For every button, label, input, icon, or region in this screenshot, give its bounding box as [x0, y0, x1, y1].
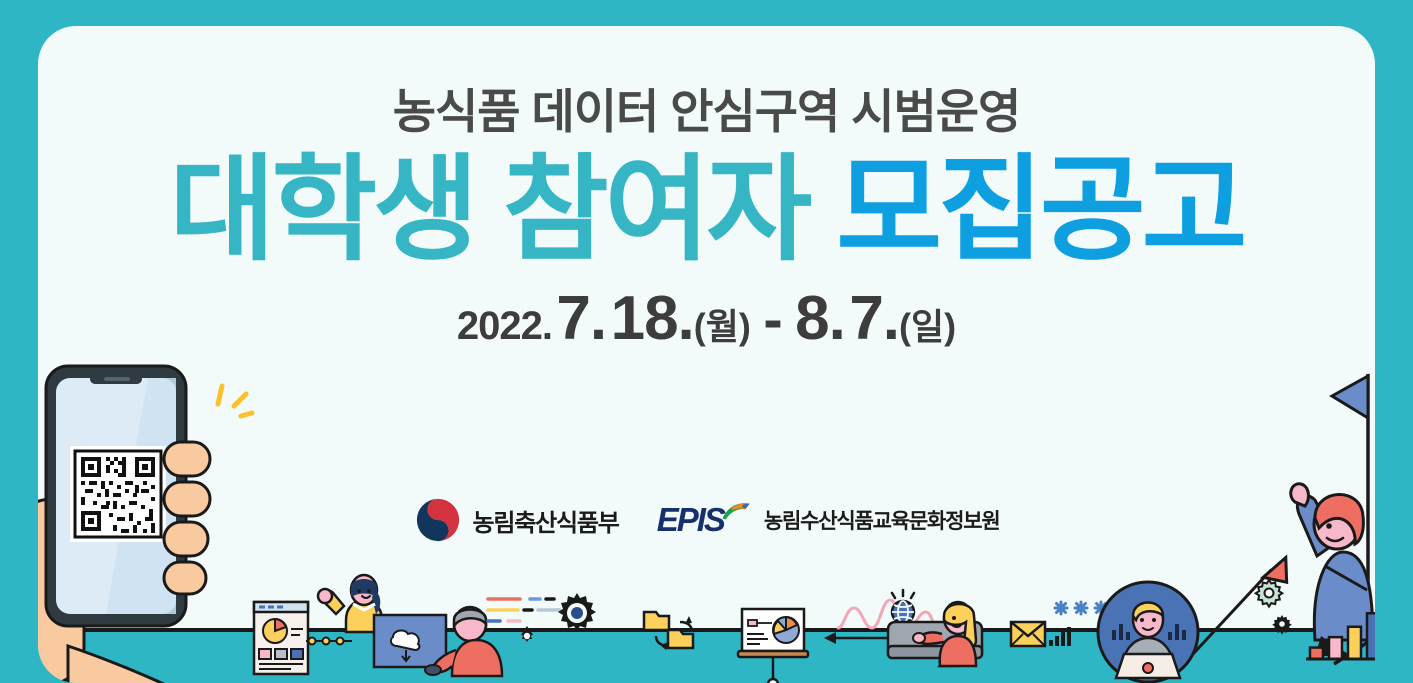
logo-epis-label: 농림수산식품교육문화정보원: [764, 505, 1000, 535]
date-end-weekday: (일): [899, 306, 956, 347]
date-start-day: 18.: [611, 284, 694, 353]
banner-root: 농식품 데이터 안심구역 시범운영 대학생 참여자 모집공고 2022. 7. …: [0, 0, 1413, 683]
epis-swoosh-icon: [719, 500, 753, 522]
banner-title: 대학생 참여자 모집공고: [38, 153, 1375, 268]
date-start-weekday: (월): [694, 306, 751, 347]
title-part-teal: 대학생 참여자: [170, 146, 809, 274]
logo-mafra-label: 농림축산식품부: [473, 503, 619, 538]
man-at-laptop-in-blue-circle: [1096, 580, 1200, 683]
banner-subtitle: 농식품 데이터 안심구역 시범운영: [38, 88, 1375, 135]
korea-government-taegeuk-icon: [414, 496, 462, 544]
envelope-with-signal-bars: [1010, 620, 1072, 648]
date-end-month: 8.: [795, 284, 845, 353]
date-year: 2022.: [457, 304, 552, 348]
headline-block: 농식품 데이터 안심구역 시범운영 대학생 참여자 모집공고 2022. 7. …: [38, 26, 1375, 350]
banner-card: 농식품 데이터 안심구역 시범운영 대학생 참여자 모집공고 2022. 7. …: [38, 26, 1375, 683]
title-part-blue: 모집공고: [836, 146, 1243, 274]
gear-icon-small: [515, 624, 539, 648]
date-start-month: 7.: [556, 284, 606, 353]
laptop-stand-knob: [764, 658, 782, 683]
ascending-bar-chart: [1306, 604, 1375, 662]
woman-blonde-figure: [918, 596, 994, 668]
dashboard-panel-with-pie-chart: [253, 601, 309, 675]
two-folders-with-sync-arrows: [642, 606, 698, 654]
logo-mafra: 농림축산식품부: [414, 496, 619, 544]
date-end-day: 7.: [849, 284, 899, 353]
bar-3: [1348, 627, 1361, 659]
sparkle-lines: [208, 382, 254, 424]
gear-icon-outline: [1255, 579, 1283, 607]
date-dash: -: [755, 287, 790, 352]
laptop-with-pie-chart: [738, 608, 810, 664]
date-line: 2022. 7. 18.(월) - 8. 7.(일): [38, 288, 1375, 350]
bar-2: [1329, 637, 1342, 659]
bar-1: [1310, 648, 1323, 659]
epis-wordmark: EPIS: [657, 501, 724, 539]
logo-epis: EPIS 농림수산식품교육문화정보원: [657, 501, 1000, 539]
gear-icon-large: [556, 592, 598, 634]
bar-4: [1367, 613, 1375, 659]
